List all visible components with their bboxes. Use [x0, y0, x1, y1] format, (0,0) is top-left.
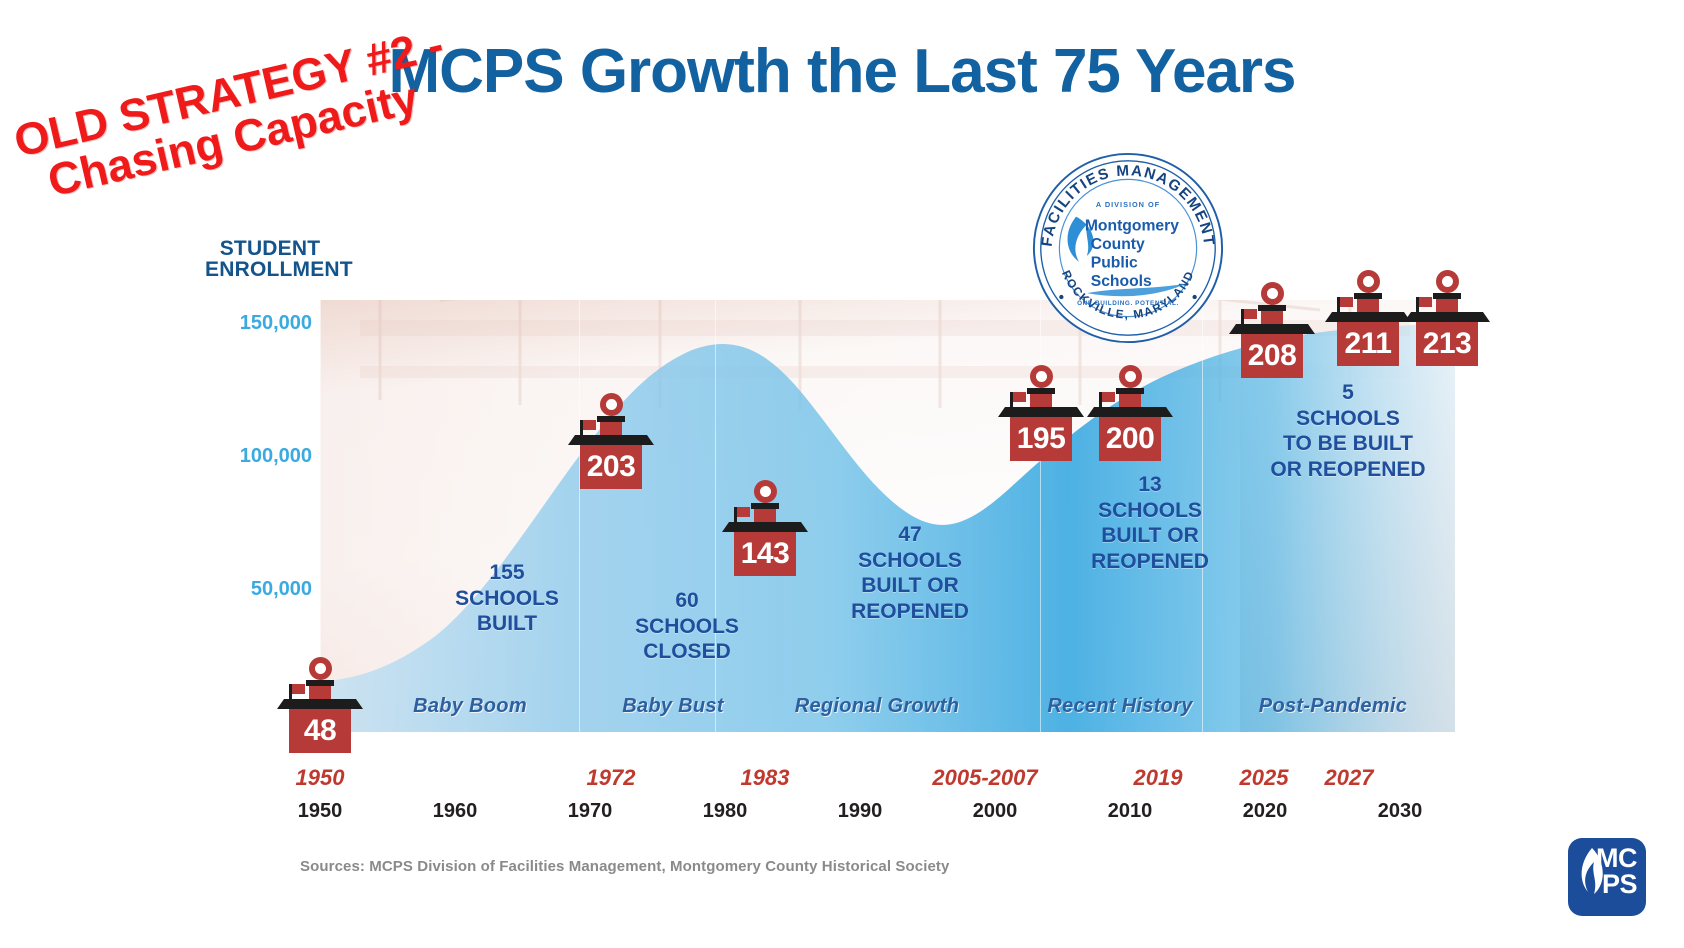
annotation-line: TO BE BUILT	[1270, 431, 1425, 457]
era-label-recent-history: Recent History	[1047, 695, 1192, 718]
y-axis-title-line2: ENROLLMENT	[205, 258, 353, 281]
annotation-line: SCHOOLS	[851, 548, 969, 574]
marker-value: 208	[1241, 334, 1303, 378]
era-label-post-pandemic: Post-Pandemic	[1259, 695, 1407, 718]
marker-value: 143	[734, 532, 796, 576]
seal-tagline: ONE BUILDING. POTENTIAL.	[1077, 300, 1179, 307]
marker-roof-icon	[1087, 393, 1173, 417]
page-title: MCPS Growth the Last 75 Years	[0, 36, 1684, 107]
annotation-regional-growth: 47 SCHOOLS BUILT OR REOPENED	[851, 522, 969, 624]
marker-ring-icon	[600, 393, 623, 416]
marker-ring-icon	[1261, 282, 1284, 305]
x-tick-2000: 2000	[973, 800, 1018, 823]
x-tick-2010: 2010	[1108, 800, 1153, 823]
x-tick-2020: 2020	[1243, 800, 1288, 823]
x-tick-1970: 1970	[568, 800, 613, 823]
annotation-line: BUILT	[455, 611, 559, 637]
annotation-line: SCHOOLS	[1270, 406, 1425, 432]
marker-ring-icon	[309, 657, 332, 680]
marker-roof-icon	[1229, 310, 1315, 334]
seal-name-line1: Montgomery	[1085, 217, 1179, 234]
annotation-line: REOPENED	[851, 599, 969, 625]
school-marker-1972[interactable]: 203	[568, 393, 654, 489]
x-tick-1950: 1950	[298, 800, 343, 823]
y-axis-title-line1: STUDENT	[220, 237, 321, 260]
infographic-root: MCPS Growth the Last 75 Years	[0, 0, 1684, 948]
annotation-baby-bust: 60 SCHOOLS CLOSED	[635, 588, 739, 665]
y-axis-title: STUDENT ENROLLMENT	[205, 238, 335, 281]
era-separator	[579, 300, 580, 732]
annotation-line: SCHOOLS	[1091, 498, 1209, 524]
marker-ring-icon	[1119, 365, 1142, 388]
school-marker-2027[interactable]: 213	[1404, 270, 1490, 366]
x-axis-milestone-years: 1950 1972 1983 2005-2007 2019 2025 2027	[320, 765, 1455, 797]
era-label-baby-boom: Baby Boom	[413, 695, 527, 718]
school-marker-1950[interactable]: 48	[277, 657, 363, 753]
annotation-post-pandemic: 5 SCHOOLS TO BE BUILT OR REOPENED	[1270, 380, 1425, 482]
marker-roof-icon	[568, 421, 654, 445]
era-label-regional-growth: Regional Growth	[795, 695, 960, 718]
x-axis-decade-ticks: 1950 1960 1970 1980 1990 2000 2010 2020 …	[320, 800, 1455, 834]
era-separator	[715, 300, 716, 732]
x-tick-1980: 1980	[703, 800, 748, 823]
school-marker-2007[interactable]: 200	[1087, 365, 1173, 461]
marker-roof-icon	[277, 685, 363, 709]
mcps-logo-line2: PS	[1602, 869, 1637, 899]
annotation-line: 47	[851, 522, 969, 548]
annotation-line: CLOSED	[635, 639, 739, 665]
marker-ring-icon	[1030, 365, 1053, 388]
marker-ring-icon	[1357, 270, 1380, 293]
marker-value: 203	[580, 445, 642, 489]
annotation-baby-boom: 155 SCHOOLS BUILT	[455, 560, 559, 637]
annotation-line: 13	[1091, 472, 1209, 498]
facilities-management-seal: FACILITIES MANAGEMENT ROCKVILLE, MARYLAN…	[1030, 150, 1226, 346]
school-marker-1983[interactable]: 143	[722, 480, 808, 576]
era-label-row: Baby Boom Baby Bust Regional Growth Rece…	[320, 695, 1455, 725]
seal-division-of: A DIVISION OF	[1096, 200, 1160, 209]
marker-roof-icon	[998, 393, 1084, 417]
school-marker-2025[interactable]: 211	[1325, 270, 1411, 366]
annotation-recent-history: 13 SCHOOLS BUILT OR REOPENED	[1091, 472, 1209, 574]
y-tick-50000: 50,000	[202, 578, 312, 601]
marker-value: 211	[1337, 322, 1399, 366]
milestone-year-1972: 1972	[587, 765, 636, 791]
seal-name-line3: Public	[1091, 255, 1138, 272]
milestone-year-2005-2007: 2005-2007	[932, 765, 1037, 791]
marker-value: 48	[289, 709, 351, 753]
milestone-year-1983: 1983	[741, 765, 790, 791]
annotation-line: REOPENED	[1091, 549, 1209, 575]
marker-value: 213	[1416, 322, 1478, 366]
milestone-year-2027: 2027	[1325, 765, 1374, 791]
annotation-line: OR REOPENED	[1270, 457, 1425, 483]
annotation-line: 60	[635, 588, 739, 614]
mcps-logo-text: MC PS	[1596, 846, 1637, 897]
marker-value: 195	[1010, 417, 1072, 461]
x-tick-1960: 1960	[433, 800, 478, 823]
era-label-baby-bust: Baby Bust	[622, 695, 724, 718]
marker-roof-icon	[1325, 298, 1411, 322]
annotation-line: 5	[1270, 380, 1425, 406]
milestone-year-2019: 2019	[1134, 765, 1183, 791]
marker-value: 200	[1099, 417, 1161, 461]
annotation-line: SCHOOLS	[635, 614, 739, 640]
x-tick-2030: 2030	[1378, 800, 1423, 823]
milestone-year-2025: 2025	[1240, 765, 1289, 791]
annotation-line: BUILT OR	[851, 573, 969, 599]
milestone-year-1950: 1950	[296, 765, 345, 791]
seal-name-line2: County	[1091, 236, 1145, 253]
mcps-logo[interactable]: MC PS	[1568, 838, 1646, 916]
y-tick-100000: 100,000	[202, 445, 312, 468]
marker-roof-icon	[1404, 298, 1490, 322]
school-marker-2019[interactable]: 208	[1229, 282, 1315, 378]
marker-ring-icon	[754, 480, 777, 503]
marker-ring-icon	[1436, 270, 1459, 293]
school-marker-2005[interactable]: 195	[998, 365, 1084, 461]
annotation-line: BUILT OR	[1091, 523, 1209, 549]
source-note: Sources: MCPS Division of Facilities Man…	[300, 858, 949, 875]
annotation-line: SCHOOLS	[455, 586, 559, 612]
x-tick-1990: 1990	[838, 800, 883, 823]
marker-roof-icon	[722, 508, 808, 532]
y-tick-150000: 150,000	[202, 312, 312, 335]
annotation-line: 155	[455, 560, 559, 586]
seal-name-line4: Schools	[1091, 273, 1152, 290]
